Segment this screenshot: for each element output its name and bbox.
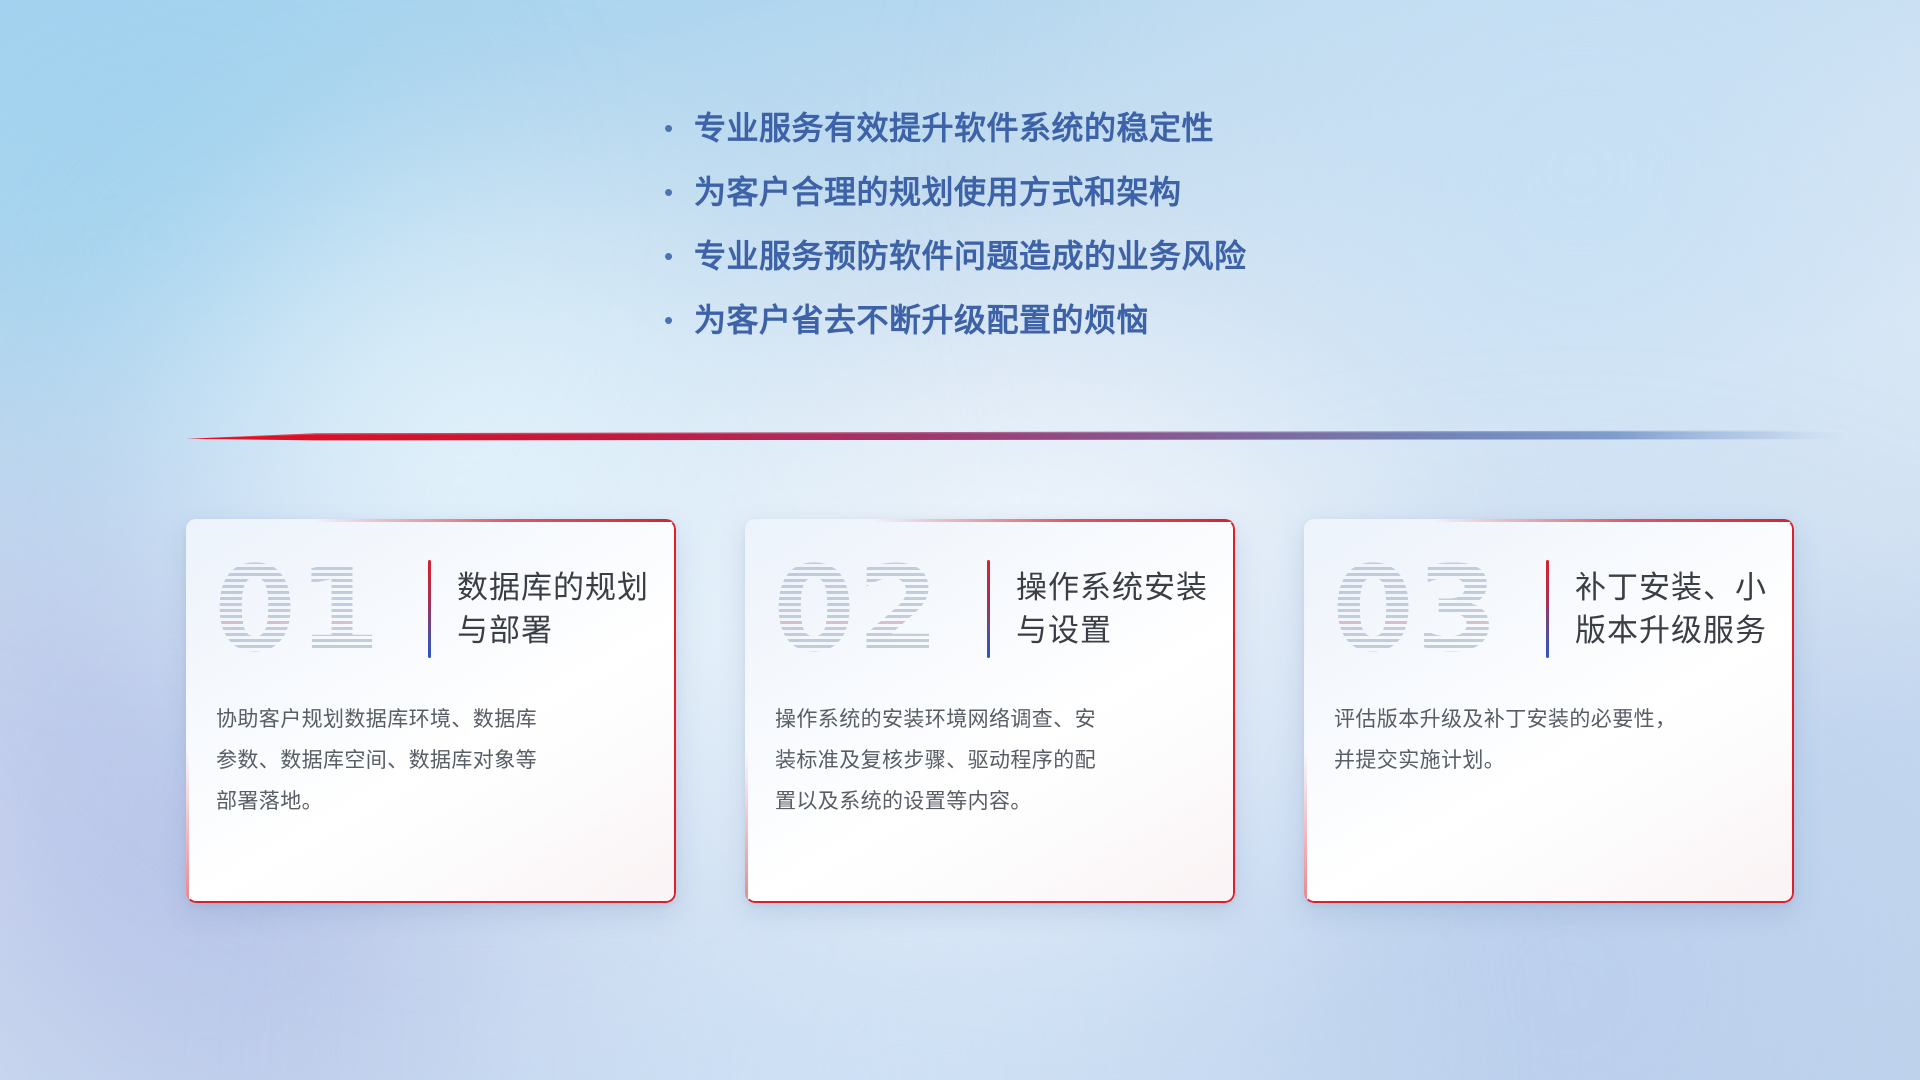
- bullet-label: 专业服务有效提升软件系统的稳定性: [694, 108, 1214, 148]
- service-card[interactable]: 01 01 数据库的规划 与部署 协助客户规划数据库环境、数据库 参数、数据库空…: [186, 519, 676, 903]
- service-card-grid: 01 01 数据库的规划 与部署 协助客户规划数据库环境、数据库 参数、数据库空…: [186, 519, 1794, 909]
- bullet-marker-icon: •: [660, 236, 694, 276]
- bullet-marker-icon: •: [660, 172, 694, 212]
- card-divider-bar: [428, 560, 431, 658]
- list-item: • 为客户合理的规划使用方式和架构: [660, 172, 1420, 236]
- card-number-tint: 01: [214, 543, 382, 675]
- card-number-watermark: 01 01: [214, 543, 428, 675]
- list-item: • 专业服务预防软件问题造成的业务风险: [660, 236, 1420, 300]
- card-accent-left-edge: [186, 749, 189, 903]
- service-card[interactable]: 03 03 补丁安装、小 版本升级服务 评估版本升级及补丁安装的必要性， 并提交…: [1304, 519, 1794, 903]
- list-item: • 为客户省去不断升级配置的烦恼: [660, 300, 1420, 364]
- card-header: 01 01 数据库的规划 与部署: [186, 519, 676, 699]
- card-body-text: 操作系统的安装环境网络调查、安 装标准及复核步骤、驱动程序的配 置以及系统的设置…: [745, 699, 1235, 822]
- card-header: 02 02 操作系统安装 与设置: [745, 519, 1235, 699]
- card-accent-left-edge: [745, 749, 748, 903]
- bullet-marker-icon: •: [660, 108, 694, 148]
- bullet-label: 为客户合理的规划使用方式和架构: [694, 172, 1182, 212]
- card-accent-left-edge: [1304, 749, 1307, 903]
- bullet-marker-icon: •: [660, 300, 694, 340]
- card-body-text: 评估版本升级及补丁安装的必要性， 并提交实施计划。: [1304, 699, 1794, 781]
- card-title: 操作系统安装 与设置: [1016, 566, 1208, 652]
- card-header: 03 03 补丁安装、小 版本升级服务: [1304, 519, 1794, 699]
- section-divider: [186, 424, 1846, 446]
- list-item: • 专业服务有效提升软件系统的稳定性: [660, 108, 1420, 172]
- bullet-label: 为客户省去不断升级配置的烦恼: [694, 300, 1149, 340]
- card-title: 补丁安装、小 版本升级服务: [1575, 566, 1767, 652]
- card-number-watermark: 03 03: [1332, 543, 1546, 675]
- bullet-list: • 专业服务有效提升软件系统的稳定性 • 为客户合理的规划使用方式和架构 • 专…: [660, 108, 1420, 364]
- bullet-label: 专业服务预防软件问题造成的业务风险: [694, 236, 1247, 276]
- service-card[interactable]: 02 02 操作系统安装 与设置 操作系统的安装环境网络调查、安 装标准及复核步…: [745, 519, 1235, 903]
- card-number-watermark: 02 02: [773, 543, 987, 675]
- card-title: 数据库的规划 与部署: [457, 566, 649, 652]
- slide-canvas: • 专业服务有效提升软件系统的稳定性 • 为客户合理的规划使用方式和架构 • 专…: [0, 0, 1920, 1080]
- card-body-text: 协助客户规划数据库环境、数据库 参数、数据库空间、数据库对象等 部署落地。: [186, 699, 676, 822]
- card-number-tint: 02: [773, 543, 941, 675]
- card-divider-bar: [1546, 560, 1549, 658]
- card-number-tint: 03: [1332, 543, 1500, 675]
- card-divider-bar: [987, 560, 990, 658]
